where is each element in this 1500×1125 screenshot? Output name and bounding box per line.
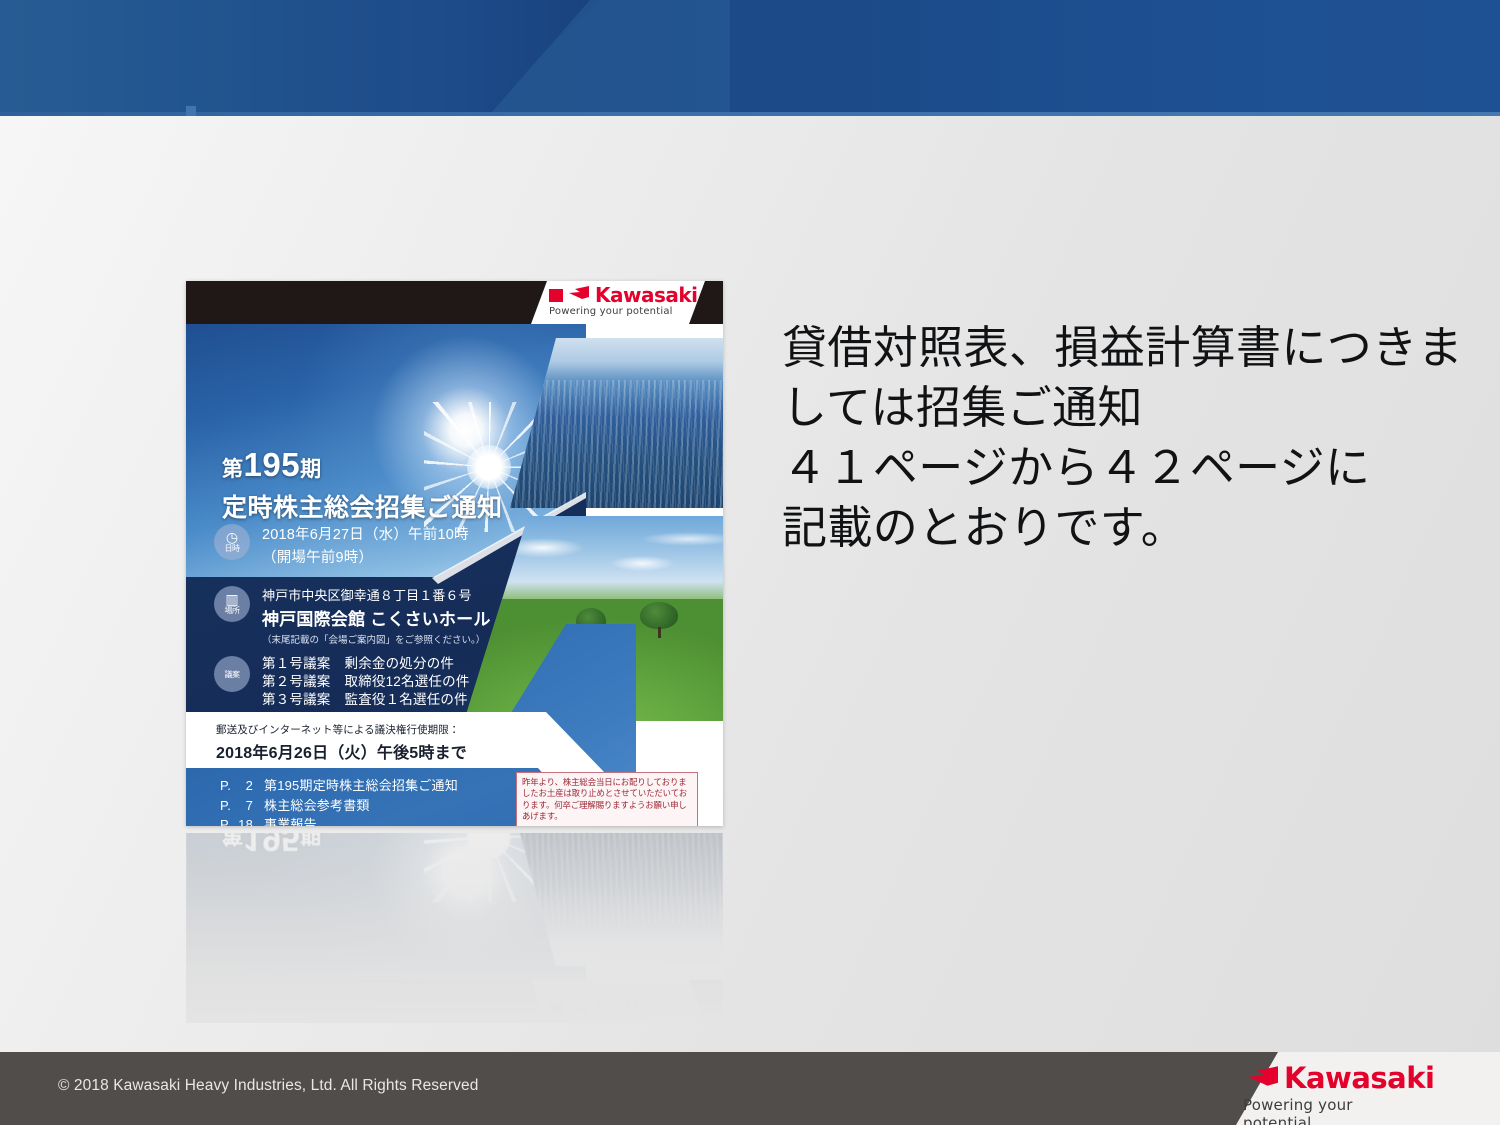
kawasaki-tagline: Powering your potential bbox=[1243, 1096, 1422, 1125]
kawasaki-flag-icon bbox=[1248, 1066, 1278, 1091]
kawasaki-wordmark: Kawasaki bbox=[595, 285, 698, 305]
title-suffix: 期 bbox=[300, 833, 322, 846]
toc-item: P.7株主総会参考書類 bbox=[220, 796, 458, 816]
toc-label: 株主総会参考書類 bbox=[264, 798, 370, 813]
sky-photo bbox=[186, 833, 586, 980]
agenda-item: 第１号議案剰余金の処分の件 bbox=[262, 655, 470, 673]
title-prefix: 第 bbox=[222, 833, 244, 846]
document-hero: 第195期 定時株主総会招集ご通知 ◷ 日時 2018年6月27日（水）午前10… bbox=[186, 324, 723, 826]
document-page: Kawasaki Powering your potential bbox=[186, 281, 723, 826]
kawasaki-square-icon bbox=[549, 1003, 563, 1016]
copyright-text: © 2018 Kawasaki Heavy Industries, Ltd. A… bbox=[58, 1077, 478, 1095]
ocean-photo bbox=[510, 833, 723, 966]
kawasaki-flag-icon bbox=[569, 286, 589, 304]
title-number: 195 bbox=[244, 446, 301, 483]
document-kawasaki-logo: Kawasaki Powering your potential bbox=[549, 987, 699, 1019]
agenda-item-number: 第３号議案 bbox=[262, 692, 331, 707]
souvenir-notice-box: 昨年より、株主総会当日にお配りしておりましたお土産は取り止めとさせていただいてお… bbox=[516, 772, 698, 826]
header-notch-marker bbox=[186, 106, 196, 116]
title-subtitle: 定時株主総会招集ご通知 bbox=[222, 488, 503, 524]
kawasaki-tagline: Powering your potential bbox=[549, 987, 699, 998]
header-band bbox=[0, 0, 1500, 114]
clock-icon: ◷ 日時 bbox=[214, 524, 250, 560]
toc-prefix: P. bbox=[220, 798, 231, 813]
clock-glyph: ◷ bbox=[226, 531, 238, 544]
building-icon: ▥ 場所 bbox=[214, 586, 250, 622]
title-prefix: 第 bbox=[222, 458, 244, 481]
title-suffix: 期 bbox=[300, 458, 322, 481]
toc-item: P.18事業報告 bbox=[220, 815, 458, 826]
slide-body-text: 貸借対照表、損益計算書につきましては招集ご通知 ４１ページから４２ページに 記載… bbox=[782, 318, 1472, 557]
footer-band: © 2018 Kawasaki Heavy Industries, Ltd. A… bbox=[0, 1052, 1500, 1125]
document-title: 第195期 定時株主総会招集ご通知 bbox=[222, 446, 503, 524]
kawasaki-square-icon bbox=[549, 289, 563, 302]
agenda-item-text: 監査役１名選任の件 bbox=[345, 692, 468, 707]
toc-page: 18 bbox=[231, 815, 253, 826]
document-title: 第195期 定時株主総会招集ご通知 bbox=[222, 833, 503, 858]
place-line3: （末尾記載の「会場ご案内図」をご参照ください。） bbox=[262, 632, 491, 646]
agenda-item-number: 第１号議案 bbox=[262, 656, 331, 671]
toc-prefix: P. bbox=[220, 817, 231, 826]
reflection-fade bbox=[186, 833, 723, 1023]
document-logo-plate bbox=[513, 980, 723, 1023]
toc-label: 事業報告 bbox=[264, 817, 317, 826]
sun-rays-icon bbox=[424, 833, 554, 902]
kawasaki-flag-icon bbox=[569, 1000, 589, 1018]
date-line2: （開場午前9時） bbox=[262, 546, 469, 567]
place-badge-label: 場所 bbox=[225, 606, 240, 615]
agenda-item-text: 取締役12名選任の件 bbox=[345, 674, 470, 689]
kawasaki-wordmark: Kawasaki bbox=[595, 999, 698, 1019]
agenda-item-number: 第２号議案 bbox=[262, 674, 331, 689]
kawasaki-tagline: Powering your potential bbox=[549, 306, 699, 317]
kawasaki-wordmark: Kawasaki bbox=[1284, 1064, 1434, 1093]
place-line1: 神戸市中央区御幸通８丁目１番６号 bbox=[262, 585, 491, 604]
deadline-value: 2018年6月26日（火）午後5時まで bbox=[216, 739, 467, 763]
footer-kawasaki-logo: Kawasaki Powering your potential bbox=[1242, 1064, 1422, 1125]
agenda-item: 第２号議案取締役12名選任の件 bbox=[262, 673, 470, 691]
document-kawasaki-logo: Kawasaki Powering your potential bbox=[549, 285, 699, 317]
toc-page: 7 bbox=[231, 796, 253, 816]
document-hero: 第195期 定時株主総会招集ご通知 ◷ 日時 2018年6月27日（水）午前10… bbox=[186, 833, 723, 980]
document-topbar: Kawasaki Powering your potential bbox=[186, 980, 723, 1023]
sun-core-icon bbox=[467, 833, 511, 859]
date-line1: 2018年6月27日（水）午前10時 bbox=[262, 523, 469, 544]
place-line2: 神戸国際会館 こくさいホール bbox=[262, 605, 491, 630]
deadline-label: 郵送及びインターネット等による議決権行使期限： bbox=[216, 722, 467, 737]
building-glyph: ▥ bbox=[225, 593, 238, 606]
document-topbar: Kawasaki Powering your potential bbox=[186, 281, 723, 324]
voting-deadline: 郵送及びインターネット等による議決権行使期限： 2018年6月26日（火）午後5… bbox=[216, 722, 467, 763]
agenda-item-text: 剰余金の処分の件 bbox=[345, 656, 455, 671]
agenda-badge-label: 議案 bbox=[225, 670, 240, 679]
document-page: Kawasaki Powering your potential bbox=[186, 833, 723, 1023]
document-toc: P.2第195期定時株主総会招集ご通知 P.7株主総会参考書類 P.18事業報告… bbox=[220, 776, 458, 826]
toc-page: 2 bbox=[231, 776, 253, 796]
toc-item: P.2第195期定時株主総会招集ご通知 bbox=[220, 776, 458, 796]
tree-icon bbox=[640, 602, 678, 638]
toc-label: 第195期定時株主総会招集ご通知 bbox=[264, 778, 458, 793]
document-thumbnail[interactable]: Kawasaki Powering your potential bbox=[186, 281, 723, 826]
agenda-icon: 議案 bbox=[214, 656, 250, 692]
date-badge-label: 日時 bbox=[225, 544, 240, 553]
agenda-item: 第３号議案監査役１名選任の件 bbox=[262, 691, 470, 709]
document-reflection: Kawasaki Powering your potential bbox=[186, 833, 723, 1023]
toc-prefix: P. bbox=[220, 778, 231, 793]
header-bottom-rule bbox=[0, 112, 1500, 116]
title-number: 195 bbox=[244, 833, 301, 858]
slide-canvas: Kawasaki Powering your potential bbox=[0, 0, 1500, 1125]
